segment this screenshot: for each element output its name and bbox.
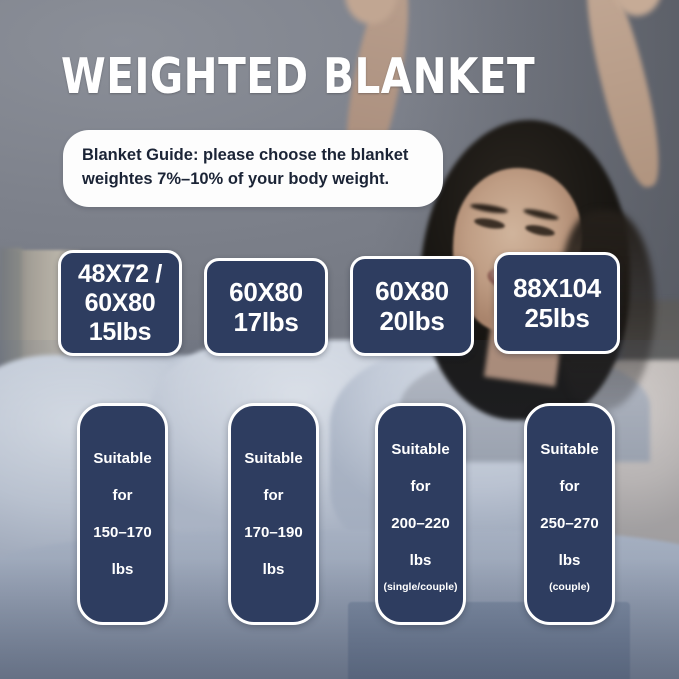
fit-card-170-190[interactable]: Suitable for 170–190 lbs <box>228 403 319 625</box>
fit-line-note: (couple) <box>549 582 590 593</box>
fit-line-unit: lbs <box>410 553 432 568</box>
fit-line-for: for <box>560 479 580 494</box>
size-card-lines: 88X104 25lbs <box>509 273 605 333</box>
fit-card-150-170[interactable]: Suitable for 150–170 lbs <box>77 403 168 625</box>
fit-line-unit: lbs <box>263 562 285 577</box>
size-line-2: 20lbs <box>375 306 449 336</box>
overlay-content: WEIGHTED BLANKET Blanket Guide: please c… <box>0 0 679 679</box>
size-card-60x80-20lbs[interactable]: 60X80 20lbs <box>350 256 474 356</box>
blanket-guide-callout: Blanket Guide: please choose the blanket… <box>63 130 443 207</box>
fit-line-range: 150–170 <box>93 525 151 540</box>
size-card-88x104-25lbs[interactable]: 88X104 25lbs <box>494 252 620 354</box>
fit-line-suitable: Suitable <box>244 451 302 466</box>
size-line-2: 17lbs <box>229 307 303 337</box>
size-line-3: 15lbs <box>78 318 162 347</box>
fit-line-range: 200–220 <box>391 516 449 531</box>
fit-line-unit: lbs <box>559 553 581 568</box>
fit-line-suitable: Suitable <box>391 442 449 457</box>
guide-line-2: weightes 7%–10% of your body weight. <box>82 167 424 191</box>
weighted-blanket-infographic: WEIGHTED BLANKET Blanket Guide: please c… <box>0 0 679 679</box>
size-card-lines: 60X80 17lbs <box>225 277 307 337</box>
size-line-1: 48X72 / <box>78 260 162 289</box>
fit-line-note: (single/couple) <box>383 582 457 593</box>
size-card-lines: 60X80 20lbs <box>371 276 453 336</box>
fit-line-for: for <box>411 479 431 494</box>
page-title: WEIGHTED BLANKET <box>61 48 535 105</box>
fit-card-250-270[interactable]: Suitable for 250–270 lbs (couple) <box>524 403 615 625</box>
size-line-1: 60X80 <box>229 277 303 307</box>
fit-card-200-220[interactable]: Suitable for 200–220 lbs (single/couple) <box>375 403 466 625</box>
fit-line-range: 250–270 <box>540 516 598 531</box>
fit-line-suitable: Suitable <box>540 442 598 457</box>
size-line-2: 60X80 <box>78 289 162 318</box>
size-line-2: 25lbs <box>513 303 601 333</box>
fit-line-for: for <box>264 488 284 503</box>
size-line-1: 88X104 <box>513 273 601 303</box>
size-card-lines: 48X72 / 60X80 15lbs <box>74 260 166 347</box>
size-card-60x80-17lbs[interactable]: 60X80 17lbs <box>204 258 328 356</box>
fit-line-unit: lbs <box>112 562 134 577</box>
size-card-48x72-60x80-15lbs[interactable]: 48X72 / 60X80 15lbs <box>58 250 182 356</box>
fit-line-range: 170–190 <box>244 525 302 540</box>
fit-line-for: for <box>113 488 133 503</box>
guide-line-1: Blanket Guide: please choose the blanket <box>82 143 424 167</box>
size-line-1: 60X80 <box>375 276 449 306</box>
fit-line-suitable: Suitable <box>93 451 151 466</box>
